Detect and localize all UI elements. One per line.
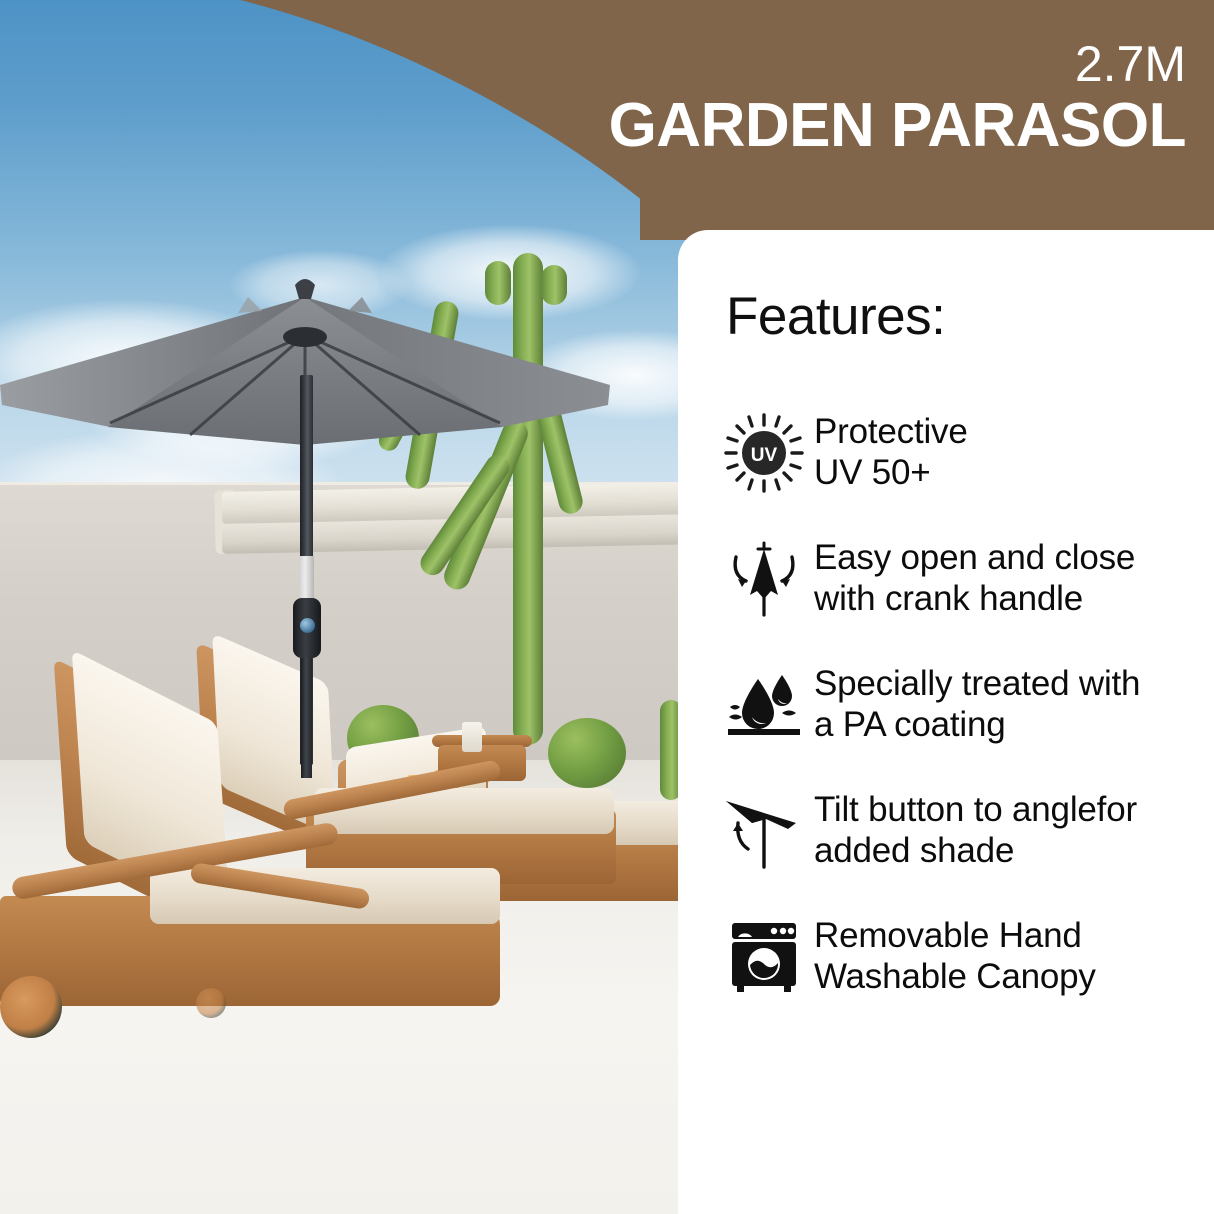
header-banner [0, 0, 1214, 262]
uv-sun-icon: UV [718, 411, 810, 495]
closed-umbrella-crank-icon [718, 537, 810, 621]
feature-line: Protective [814, 412, 968, 453]
feature-item: Removable Hand Washable Canopy [718, 909, 1214, 1005]
feature-text: Tilt button to anglefor added shade [810, 790, 1137, 872]
feature-line: UV 50+ [814, 453, 968, 494]
feature-line: Removable Hand [814, 916, 1096, 957]
water-droplet-coating-icon [718, 663, 810, 747]
feature-item: UV Protective UV 50+ [718, 405, 1214, 501]
feature-line: Specially treated with [814, 664, 1140, 705]
feature-line: with crank handle [814, 579, 1135, 620]
feature-line: Easy open and close [814, 538, 1135, 579]
feature-line: Tilt button to anglefor [814, 790, 1137, 831]
uv-icon-label: UV [751, 445, 778, 466]
features-panel: Features: [678, 230, 1214, 1214]
lounger-wheel [196, 988, 226, 1018]
feature-line: Washable Canopy [814, 957, 1096, 998]
crank-knob [300, 618, 315, 633]
washing-machine-icon [718, 915, 810, 999]
features-heading: Features: [726, 290, 1214, 343]
feature-text: Removable Hand Washable Canopy [810, 916, 1096, 998]
feature-text: Protective UV 50+ [810, 412, 968, 494]
lounger-wheel [0, 976, 62, 1038]
feature-item: Specially treated with a PA coating [718, 657, 1214, 753]
features-list: UV Protective UV 50+ [718, 405, 1214, 1005]
parasol-canopy [0, 275, 700, 475]
pole-joint [299, 556, 314, 600]
pole-lower [301, 658, 312, 778]
feature-text: Easy open and close with crank handle [810, 538, 1135, 620]
tilting-parasol-icon [718, 789, 810, 873]
feature-item: Tilt button to anglefor added shade [718, 783, 1214, 879]
feature-line: a PA coating [814, 705, 1140, 746]
feature-line: added shade [814, 831, 1137, 872]
feature-item: Easy open and close with crank handle [718, 531, 1214, 627]
product-infographic: 2.7M GARDEN PARASOL Features: [0, 0, 1214, 1214]
feature-text: Specially treated with a PA coating [810, 664, 1140, 746]
